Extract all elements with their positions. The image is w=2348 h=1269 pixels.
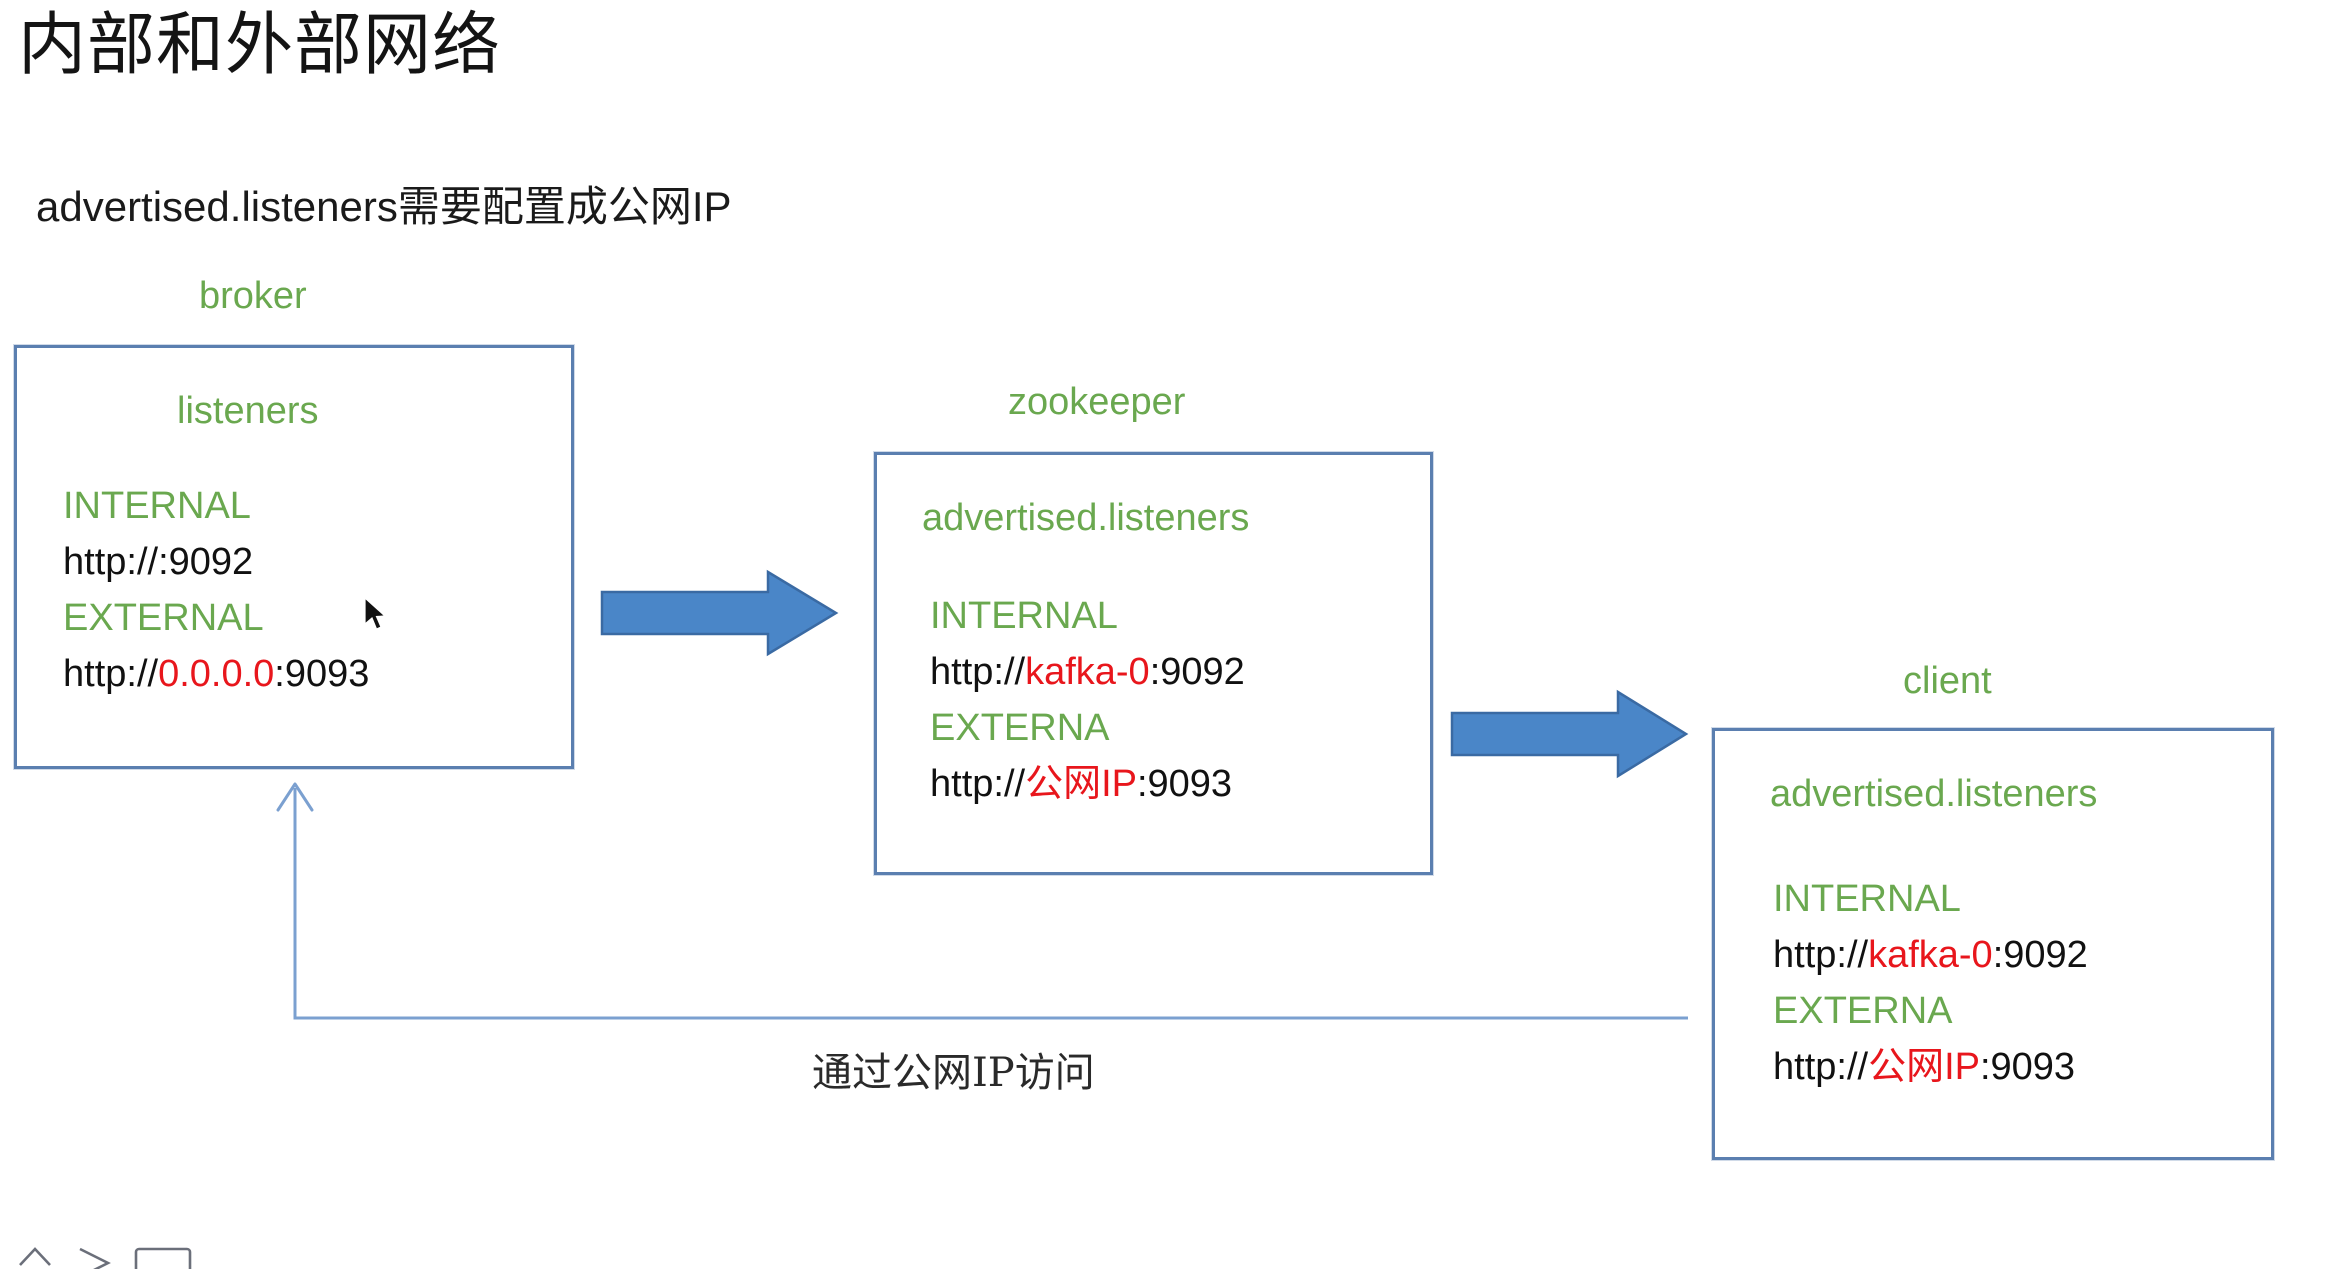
broker-box-heading: listeners xyxy=(177,390,319,433)
block-arrow-shape xyxy=(602,572,836,654)
listener-url: http://kafka-0:9092 xyxy=(930,644,1245,700)
node-label-zookeeper: zookeeper xyxy=(1008,381,1185,424)
listener-entry: INTERNAL xyxy=(1773,871,2088,927)
listener-host: 0.0.0.0 xyxy=(158,653,274,695)
listener-url: http://:9092 xyxy=(63,534,369,590)
listener-host: 公网IP xyxy=(1868,1046,1980,1088)
zookeeper-box-heading: advertised.listeners xyxy=(922,497,1249,540)
listener-entry: EXTERNAL xyxy=(63,590,369,646)
listener-port: :9092 xyxy=(1150,651,1245,693)
subtitle-note: advertised.listeners需要配置成公网IP xyxy=(36,182,732,232)
node-label-broker: broker xyxy=(199,275,307,318)
listener-url: http://kafka-0:9092 xyxy=(1773,927,2088,983)
broker-listener-list: INTERNAL http://:9092 EXTERNAL http://0.… xyxy=(63,478,369,702)
listener-entry: EXTERNA xyxy=(930,700,1245,756)
cursor-shape xyxy=(365,598,385,629)
listener-scheme: http:// xyxy=(930,651,1025,693)
chevron-up-icon[interactable] xyxy=(20,1249,50,1265)
listener-name: INTERNAL xyxy=(63,485,251,527)
listener-name: EXTERNA xyxy=(930,707,1109,749)
connector-client-to-broker xyxy=(250,760,1700,1030)
listener-scheme: http:// xyxy=(63,541,158,583)
listener-host: kafka-0 xyxy=(1868,934,1993,976)
listener-entry: INTERNAL xyxy=(930,588,1245,644)
listener-scheme: http:// xyxy=(1773,1046,1868,1088)
play-triangle-icon[interactable] xyxy=(80,1249,108,1269)
connector-caption: 通过公网IP访问 xyxy=(812,1040,1095,1098)
listener-port: :9093 xyxy=(1980,1046,2075,1088)
listener-port: :9092 xyxy=(1993,934,2088,976)
listener-name: INTERNAL xyxy=(1773,878,1961,920)
slide-canvas: 内部和外部网络 advertised.listeners需要配置成公网IP br… xyxy=(0,0,2348,1269)
connector-path xyxy=(295,788,1688,1018)
node-box-broker: listeners INTERNAL http://:9092 EXTERNAL… xyxy=(14,345,574,769)
listener-name: EXTERNAL xyxy=(63,597,264,639)
listener-url: http://0.0.0.0:9093 xyxy=(63,646,369,702)
node-label-client: client xyxy=(1903,660,1992,703)
client-box-heading: advertised.listeners xyxy=(1770,773,2097,816)
client-listener-list: INTERNAL http://kafka-0:9092 EXTERNA htt… xyxy=(1773,871,2088,1095)
listener-port: :9093 xyxy=(274,653,369,695)
listener-host: kafka-0 xyxy=(1025,651,1150,693)
mouse-pointer-icon xyxy=(363,597,389,633)
listener-entry: INTERNAL xyxy=(63,478,369,534)
bottom-control-strip[interactable] xyxy=(16,1243,206,1269)
arrow-broker-to-zookeeper xyxy=(600,568,840,658)
screen-rectangle-icon[interactable] xyxy=(136,1249,190,1269)
listener-name: EXTERNA xyxy=(1773,990,1952,1032)
listener-entry: EXTERNA xyxy=(1773,983,2088,1039)
listener-name: INTERNAL xyxy=(930,595,1118,637)
listener-scheme: http:// xyxy=(1773,934,1868,976)
page-title: 内部和外部网络 xyxy=(18,6,501,84)
node-box-client: advertised.listeners INTERNAL http://kaf… xyxy=(1712,728,2274,1160)
listener-port: :9092 xyxy=(158,541,253,583)
listener-url: http://公网IP:9093 xyxy=(1773,1039,2088,1095)
listener-scheme: http:// xyxy=(63,653,158,695)
